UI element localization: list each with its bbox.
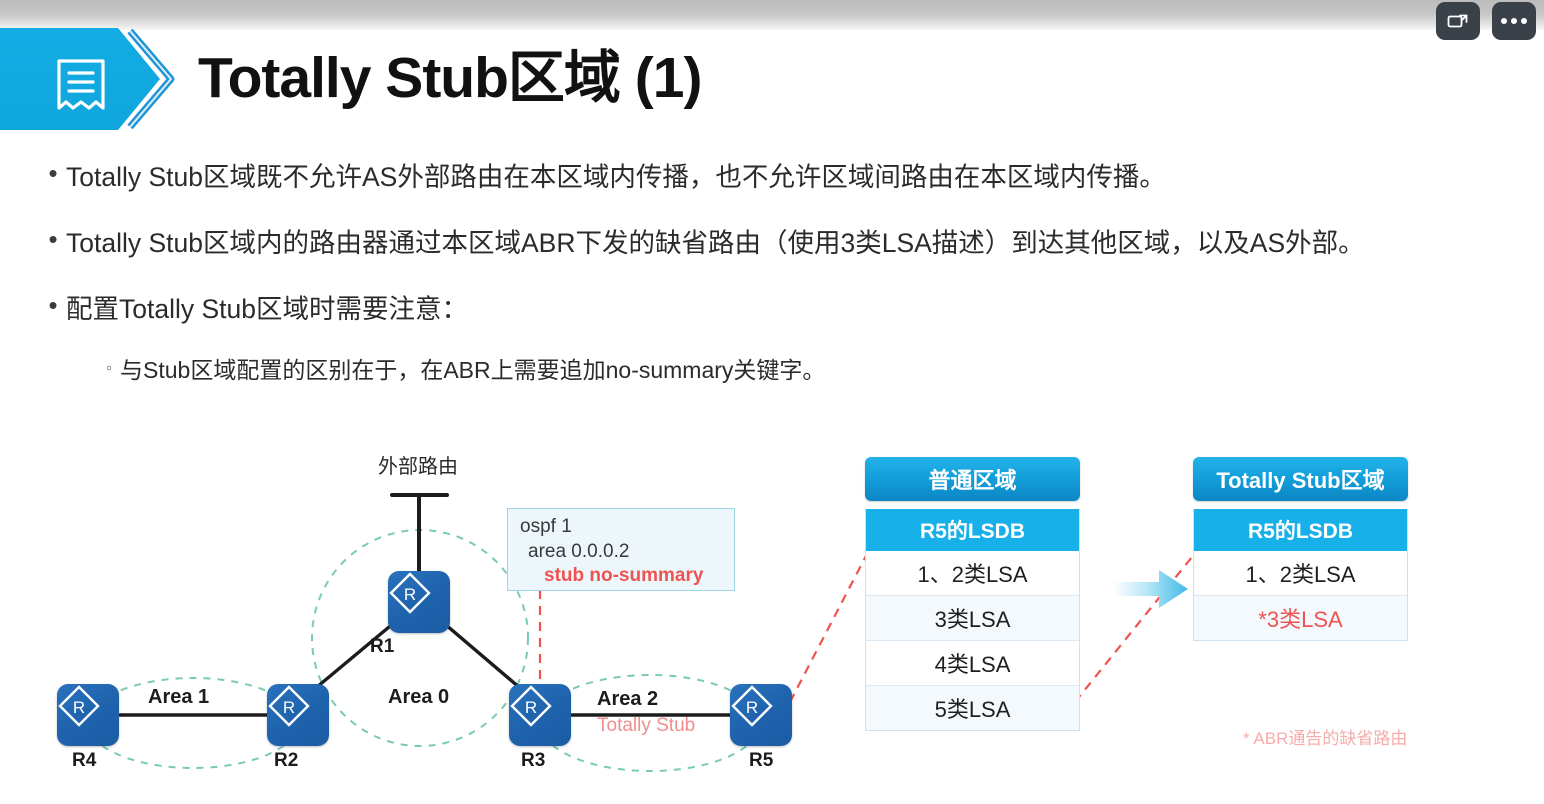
bullet-marker: • bbox=[40, 284, 66, 326]
bullet-marker: ▫ bbox=[98, 350, 120, 386]
router-node-r5[interactable]: R bbox=[730, 684, 792, 746]
table-row: 3类LSA bbox=[866, 596, 1079, 641]
leader-r5-to-normal-table bbox=[790, 552, 868, 702]
router-node-r4[interactable]: R bbox=[57, 684, 119, 746]
totally-stub-lsdb-header: R5的LSDB bbox=[1194, 509, 1407, 551]
bullet-list: • Totally Stub区域既不允许AS外部路由在本区域内传播，也不允许区域… bbox=[40, 152, 1530, 390]
router-label-r5: R5 bbox=[749, 750, 773, 772]
bullet-marker: • bbox=[40, 152, 66, 194]
area-label-area2: Area 2 bbox=[597, 688, 658, 711]
header-banner bbox=[0, 28, 178, 130]
router-icon: R bbox=[388, 571, 432, 615]
router-icon: R bbox=[267, 684, 311, 728]
bullet-item-1: • Totally Stub区域既不允许AS外部路由在本区域内传播，也不允许区域… bbox=[40, 152, 1530, 202]
config-line-stub-no-summary: stub no-summary bbox=[544, 563, 703, 589]
bullet-item-4: ▫ 与Stub区域配置的区别在于，在ABR上需要追加no-summary关键字。 bbox=[98, 350, 1530, 390]
table-row: *3类LSA bbox=[1194, 596, 1407, 640]
ospf-config-callout: ospf 1 area 0.0.0.2 stub no-summary bbox=[507, 508, 735, 591]
normal-area-lsdb-header: R5的LSDB bbox=[866, 509, 1079, 551]
normal-area-lsdb-panel: 普通区域 R5的LSDB 1、2类LSA 3类LSA 4类LSA 5类LSA bbox=[865, 457, 1080, 731]
config-line-area: area 0.0.0.2 bbox=[528, 539, 629, 565]
table-row: 1、2类LSA bbox=[1194, 551, 1407, 596]
bullet-marker: • bbox=[40, 218, 66, 260]
ellipsis-icon bbox=[1501, 18, 1527, 24]
router-node-r1[interactable]: R bbox=[388, 571, 450, 633]
router-label-r1: R1 bbox=[370, 636, 394, 658]
normal-area-lsdb-table: R5的LSDB 1、2类LSA 3类LSA 4类LSA 5类LSA bbox=[865, 509, 1080, 731]
router-label-r3: R3 bbox=[521, 750, 545, 772]
svg-text:R: R bbox=[404, 585, 416, 604]
window-top-strip bbox=[0, 0, 1544, 30]
bullet-text: 与Stub区域配置的区别在于，在ABR上需要追加no-summary关键字。 bbox=[120, 350, 825, 390]
area-label-area0: Area 0 bbox=[388, 686, 449, 709]
svg-text:R: R bbox=[746, 698, 758, 717]
router-node-r2[interactable]: R bbox=[267, 684, 329, 746]
router-icon: R bbox=[509, 684, 553, 728]
svg-text:R: R bbox=[283, 698, 295, 717]
bullet-text: Totally Stub区域内的路由器通过本区域ABR下发的缺省路由（使用3类L… bbox=[66, 218, 1530, 268]
router-icon: R bbox=[730, 684, 774, 728]
arrow-right-icon bbox=[1112, 565, 1190, 613]
router-icon: R bbox=[57, 684, 101, 728]
router-node-r3[interactable]: R bbox=[509, 684, 571, 746]
totally-stub-title: Totally Stub区域 bbox=[1193, 457, 1408, 501]
bullet-text: 配置Totally Stub区域时需要注意： bbox=[66, 284, 1530, 334]
normal-area-title: 普通区域 bbox=[865, 457, 1080, 501]
table-row: 1、2类LSA bbox=[866, 551, 1079, 596]
area-sublabel-totally-stub: Totally Stub bbox=[597, 715, 695, 737]
bullet-text: Totally Stub区域既不允许AS外部路由在本区域内传播，也不允许区域间路… bbox=[66, 152, 1530, 202]
bullet-item-3: • 配置Totally Stub区域时需要注意： bbox=[40, 284, 1530, 334]
page-title: Totally Stub区域 (1) bbox=[198, 30, 701, 126]
table-row: 5类LSA bbox=[866, 686, 1079, 730]
svg-text:R: R bbox=[525, 698, 537, 717]
external-route-label: 外部路由 bbox=[378, 450, 458, 479]
totally-stub-lsdb-table: R5的LSDB 1、2类LSA *3类LSA bbox=[1193, 509, 1408, 641]
router-label-r4: R4 bbox=[72, 750, 96, 772]
lsdb-footnote: * ABR通告的缺省路由 bbox=[1243, 724, 1407, 749]
slide-header: Totally Stub区域 (1) bbox=[0, 28, 1544, 130]
area-label-area1: Area 1 bbox=[148, 686, 209, 709]
totally-stub-lsdb-panel: Totally Stub区域 R5的LSDB 1、2类LSA *3类LSA bbox=[1193, 457, 1408, 641]
external-route-link bbox=[392, 495, 447, 571]
table-row: 4类LSA bbox=[866, 641, 1079, 686]
document-list-icon bbox=[52, 58, 110, 114]
svg-text:R: R bbox=[73, 698, 85, 717]
bullet-item-2: • Totally Stub区域内的路由器通过本区域ABR下发的缺省路由（使用3… bbox=[40, 218, 1530, 268]
router-label-r2: R2 bbox=[274, 750, 298, 772]
config-line-ospf: ospf 1 bbox=[520, 514, 572, 540]
